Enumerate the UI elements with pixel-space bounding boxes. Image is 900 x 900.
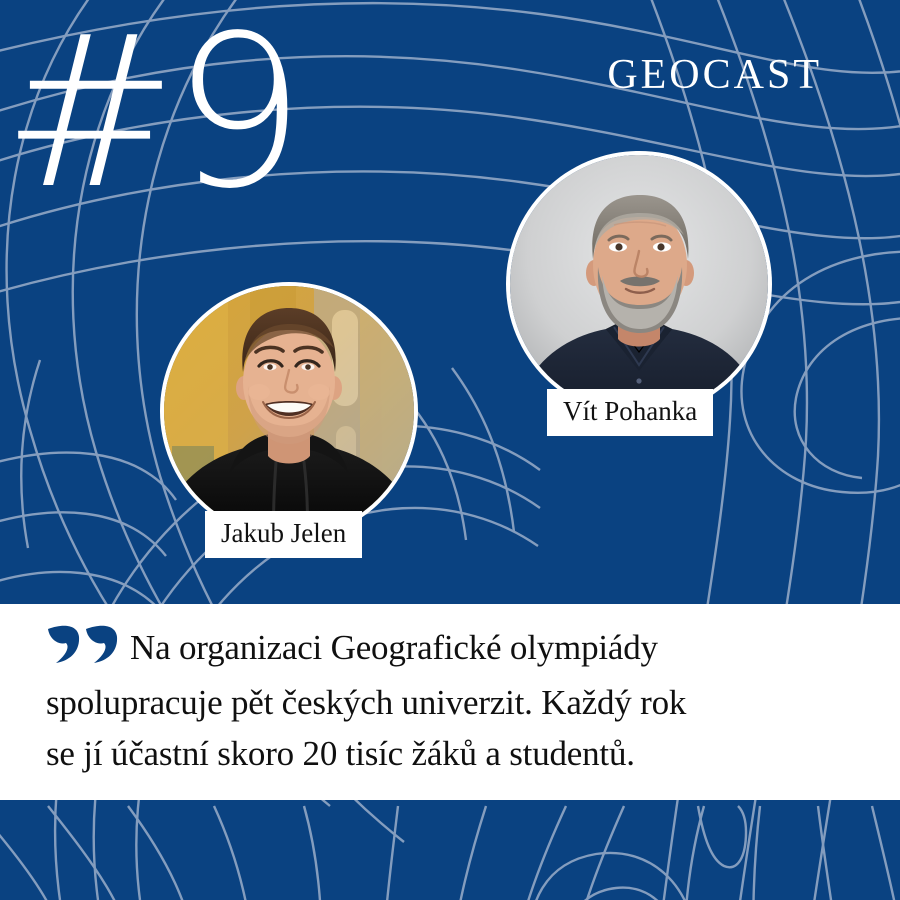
quotation-mark-icon — [46, 623, 120, 677]
quote-line-3: se jí účastní skoro 20 tisíc žáků a stud… — [46, 734, 635, 773]
quote-band: Na organizaci Geografické olympiádyspolu… — [0, 604, 900, 800]
quote-line-1: Na organizaci Geografické olympiády — [130, 628, 658, 667]
quote-text: Na organizaci Geografické olympiádyspolu… — [46, 622, 854, 779]
podcast-episode-poster: #9 GEOCAST — [0, 0, 900, 900]
episode-number: #9 — [2, 8, 300, 218]
guest-nameplate-jelen: Jakub Jelen — [205, 511, 362, 558]
guest-photo-jelen — [164, 286, 414, 536]
quote-line-2: spolupracuje pět českých univerzit. Každ… — [46, 683, 686, 722]
guest-photo-pohanka — [510, 155, 768, 413]
show-title: GEOCAST — [607, 54, 822, 96]
guest-nameplate-pohanka: Vít Pohanka — [547, 389, 713, 436]
